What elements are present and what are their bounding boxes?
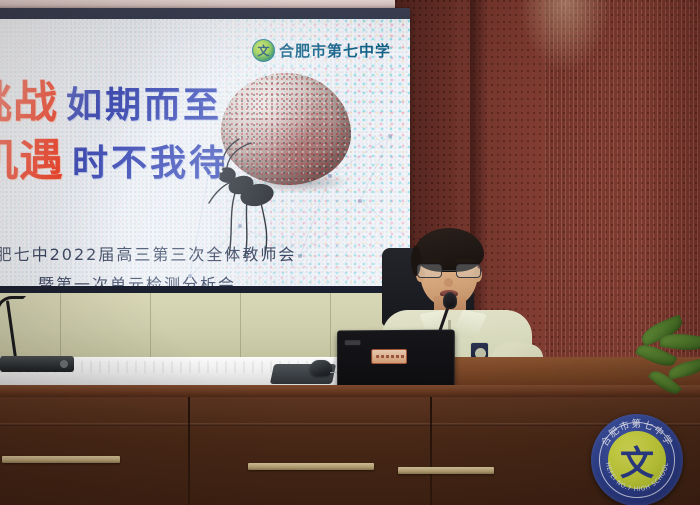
speaker-nose [444, 278, 453, 287]
podium-microphone-base [0, 356, 74, 372]
svg-text:HEFEI NO.7 HIGH SCHOOL: HEFEI NO.7 HIGH SCHOOL [604, 462, 670, 493]
desk-edge-trim [0, 385, 700, 397]
svg-text:合肥市第七中学: 合肥市第七中学 [599, 418, 676, 449]
laptop-lid[interactable] [337, 330, 455, 391]
speaker-brow-right [456, 259, 476, 262]
podium-microphone-arm [0, 296, 26, 318]
laptop-brand-logo-icon [345, 340, 361, 345]
microphone-head-icon [443, 292, 457, 309]
laptop-asset-sticker [371, 349, 407, 364]
conference-room-photo: 合肥市第七中学 挑战 如期而至 机遇 时不我待 合肥七中2022届高三第三次全体… [0, 0, 700, 505]
school-emblem-badge: 文 合肥市第七中学 HEFEI NO.7 HIGH SCHOOL [591, 414, 683, 505]
computer-mouse[interactable] [310, 360, 332, 376]
speaker-brow-left [422, 259, 442, 262]
projection-screen: 合肥市第七中学 挑战 如期而至 机遇 时不我待 合肥七中2022届高三第三次全体… [0, 19, 410, 286]
emblem-arc-text: 合肥市第七中学 HEFEI NO.7 HIGH SCHOOL [591, 414, 683, 505]
potted-plant [634, 318, 700, 428]
glasses-icon [417, 264, 481, 278]
screen-glare [0, 19, 410, 286]
